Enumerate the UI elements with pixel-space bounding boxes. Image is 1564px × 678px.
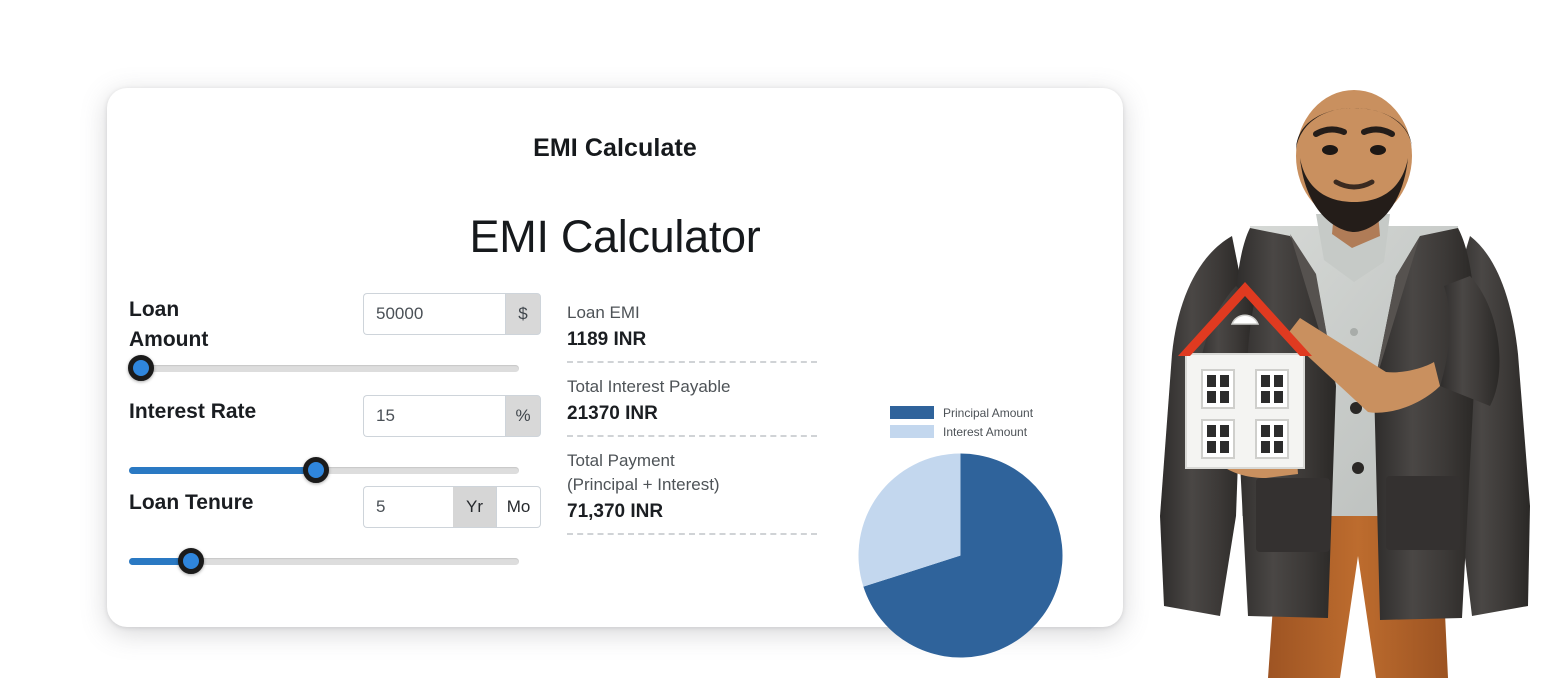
legend-label: Interest Amount <box>943 425 1027 439</box>
result-value: 1189 INR <box>567 325 817 359</box>
slider-track[interactable] <box>129 365 519 372</box>
legend-item-principal: Principal Amount <box>890 406 1033 419</box>
result-label-line2: (Principal + Interest) <box>567 473 817 497</box>
photo-man-holding-house <box>1140 86 1564 678</box>
slider-thumb[interactable] <box>128 355 154 381</box>
result-loan-emi: Loan EMI 1189 INR <box>567 301 817 363</box>
control-loan-amount: Loan Amount 50000 $ <box>129 293 541 381</box>
result-total-payment: Total Payment (Principal + Interest) 71,… <box>567 449 817 535</box>
chart-legend: Principal Amount Interest Amount <box>890 406 1033 444</box>
person-illustration <box>1140 86 1564 678</box>
results-column: Loan EMI 1189 INR Total Interest Payable… <box>567 301 817 547</box>
percent-addon-icon: % <box>505 395 541 437</box>
calculator-body: Loan Amount 50000 $ Int <box>107 293 1123 627</box>
loan-tenure-label: Loan Tenure <box>129 486 253 518</box>
currency-addon-icon: $ <box>505 293 541 335</box>
page-title: EMI Calculator <box>107 211 1123 263</box>
legend-swatch-icon <box>890 425 934 438</box>
interest-rate-slider[interactable] <box>129 457 519 483</box>
control-loan-tenure: Loan Tenure 5 Yr Mo <box>129 486 541 574</box>
jacket-button <box>1352 462 1364 474</box>
legend-label: Principal Amount <box>943 406 1033 420</box>
app-title: EMI Calculate <box>107 134 1123 163</box>
interest-rate-input[interactable]: 15 <box>363 395 505 437</box>
result-value: 21370 INR <box>567 399 817 433</box>
pie-chart-svg <box>850 453 1071 658</box>
tenure-unit-years-button[interactable]: Yr <box>453 486 497 528</box>
shirt-button <box>1350 328 1358 336</box>
loan-amount-input[interactable]: 50000 <box>363 293 505 335</box>
slider-thumb[interactable] <box>303 457 329 483</box>
result-divider <box>567 533 817 535</box>
eye-right <box>1370 145 1386 155</box>
legend-item-interest: Interest Amount <box>890 425 1033 438</box>
loan-tenure-input-group[interactable]: 5 Yr Mo <box>363 486 541 528</box>
result-label: Total Interest Payable <box>567 375 817 399</box>
interest-rate-input-group[interactable]: 15 % <box>363 395 541 437</box>
pocket-left <box>1256 478 1330 552</box>
loan-amount-input-group[interactable]: 50000 $ <box>363 293 541 335</box>
emi-calculator-page: EMI Calculate EMI Calculator Loan Amount… <box>0 0 1564 678</box>
interest-rate-label: Interest Rate <box>129 395 256 427</box>
control-interest-rate: Interest Rate 15 % <box>129 395 541 483</box>
result-total-interest: Total Interest Payable 21370 INR <box>567 375 817 437</box>
loan-tenure-slider[interactable] <box>129 548 519 574</box>
result-divider <box>567 361 817 363</box>
loan-tenure-input[interactable]: 5 <box>363 486 453 528</box>
result-label-line1: Total Payment <box>567 449 817 473</box>
result-label: Loan EMI <box>567 301 817 325</box>
loan-amount-slider[interactable] <box>129 355 519 381</box>
slider-thumb[interactable] <box>178 548 204 574</box>
legend-swatch-icon <box>890 406 934 419</box>
slider-fill <box>129 467 316 474</box>
loan-amount-label: Loan Amount <box>129 293 239 355</box>
calculator-card: EMI Calculate EMI Calculator Loan Amount… <box>107 88 1123 627</box>
result-divider <box>567 435 817 437</box>
result-value: 71,370 INR <box>567 497 817 531</box>
tenure-unit-months-button[interactable]: Mo <box>497 486 541 528</box>
pie-chart <box>850 453 1071 658</box>
pocket-right <box>1386 476 1460 550</box>
eye-left <box>1322 145 1338 155</box>
